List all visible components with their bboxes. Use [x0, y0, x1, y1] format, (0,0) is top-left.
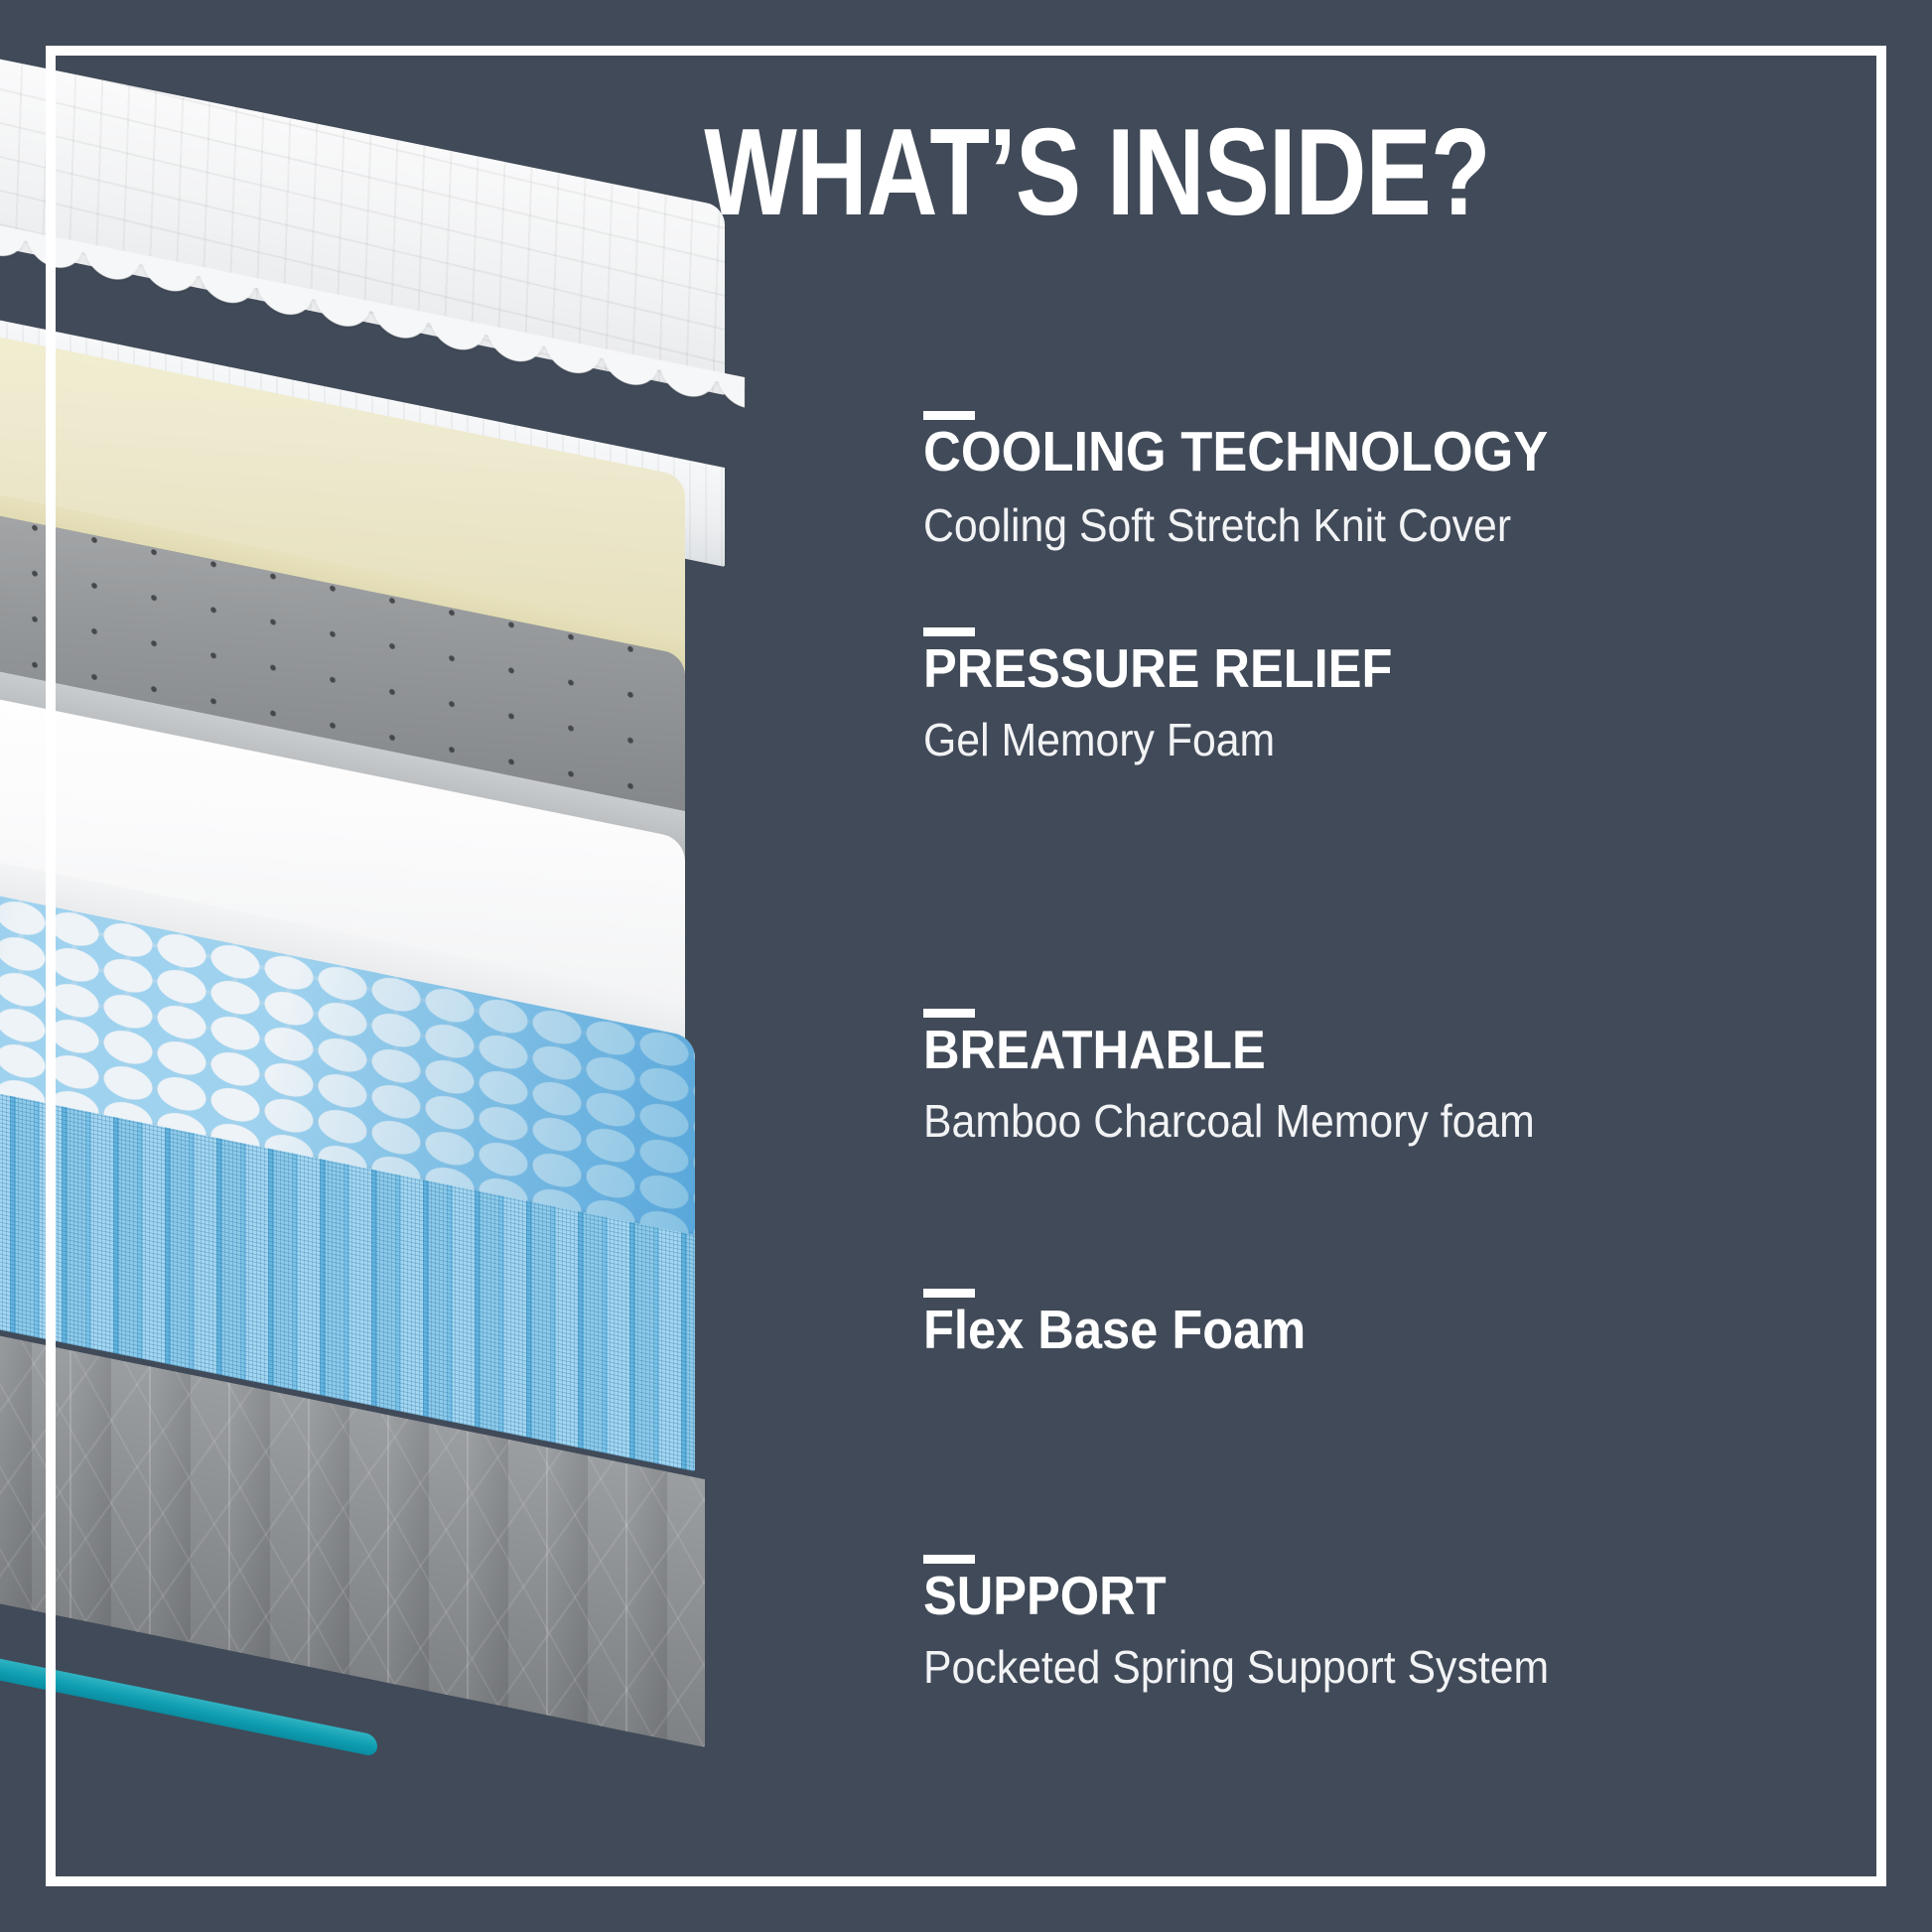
legend-item-title: Flex Base Foam: [923, 1307, 1306, 1352]
legend-item-title: COOLING TECHNOLOGY: [923, 429, 1548, 477]
legend-item-support: SUPPORT Pocketed Spring Support System: [923, 1555, 1596, 1690]
em-dash-marker: [923, 411, 975, 420]
legend-item-subtitle: Pocketed Spring Support System: [923, 1644, 1549, 1690]
infographic-canvas: weet WHAT’S INSIDE? COOLING TECHNOLOGY C…: [0, 0, 1932, 1932]
legend-item-subtitle: Gel Memory Foam: [923, 717, 1397, 762]
legend-item-subtitle: Bamboo Charcoal Memory foam: [923, 1098, 1535, 1144]
feature-legend-list: COOLING TECHNOLOGY Cooling Soft Stretch …: [0, 0, 1932, 1932]
legend-item-title: SUPPORT: [923, 1573, 1542, 1618]
em-dash-marker: [923, 1009, 975, 1018]
em-dash-marker: [923, 1555, 975, 1564]
legend-item-flex-base-foam: Flex Base Foam: [923, 1289, 1339, 1352]
legend-item-subtitle: Cooling Soft Stretch Knit Cover: [923, 502, 1555, 548]
legend-item-title: BREATHABLE: [923, 1027, 1528, 1072]
em-dash-marker: [923, 627, 975, 636]
legend-item-breathable: BREATHABLE Bamboo Charcoal Memory foam: [923, 1009, 1581, 1144]
legend-item-title: PRESSURE RELIEF: [923, 645, 1392, 691]
legend-item-cooling-technology: COOLING TECHNOLOGY Cooling Soft Stretch …: [923, 411, 1602, 548]
legend-item-pressure-relief: PRESSURE RELIEF Gel Memory Foam: [923, 627, 1433, 762]
em-dash-marker: [923, 1289, 975, 1298]
